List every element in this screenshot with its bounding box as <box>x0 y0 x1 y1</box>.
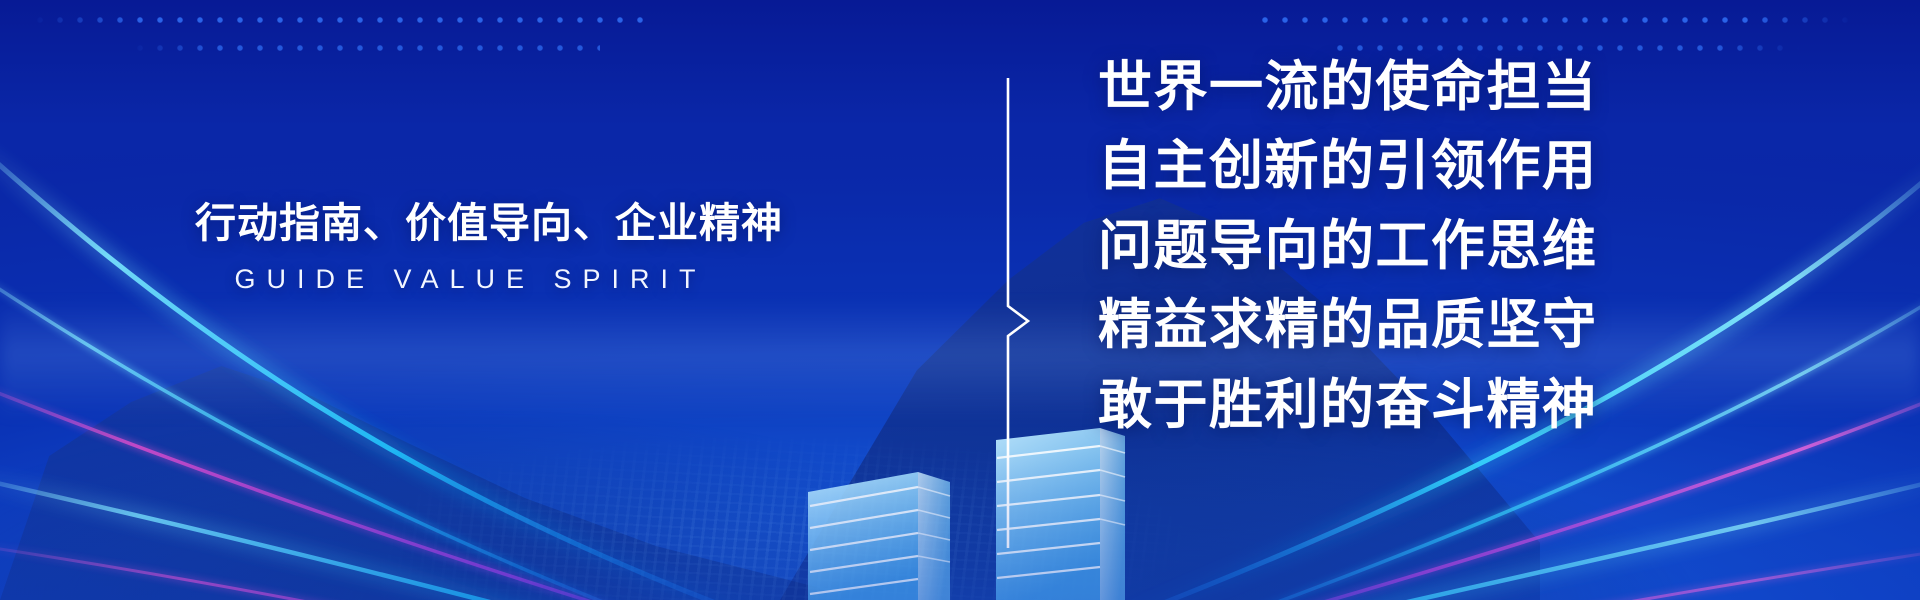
right-text-block: 世界一流的使命担当 自主创新的引领作用 问题导向的工作思维 精益求精的品质坚守 … <box>1098 48 1618 445</box>
left-text-block: 行动指南、价值导向、企业精神 GUIDE VALUE SPIRIT <box>195 198 735 295</box>
corporate-culture-banner: 行动指南、价值导向、企业精神 GUIDE VALUE SPIRIT 世界一流的使… <box>0 0 1920 600</box>
right-line-1: 世界一流的使命担当 <box>1098 48 1618 127</box>
right-line-2: 自主创新的引领作用 <box>1098 127 1618 206</box>
right-line-4: 精益求精的品质坚守 <box>1098 286 1618 365</box>
dot-row-top-right <box>1255 12 1855 28</box>
left-subtitle-en: GUIDE VALUE SPIRIT <box>195 264 735 295</box>
dot-row-top-left <box>30 12 650 28</box>
left-headline-cn: 行动指南、价值导向、企业精神 <box>195 198 735 250</box>
building-left <box>808 472 950 600</box>
building-graphic-group <box>800 400 1130 600</box>
dot-row-second-left <box>130 40 600 56</box>
right-line-3: 问题导向的工作思维 <box>1098 207 1618 286</box>
background-sky-top-fade <box>0 0 1920 230</box>
right-line-5: 敢于胜利的奋斗精神 <box>1098 366 1618 445</box>
section-divider <box>998 78 1038 548</box>
chevron-right-icon <box>1008 78 1028 548</box>
